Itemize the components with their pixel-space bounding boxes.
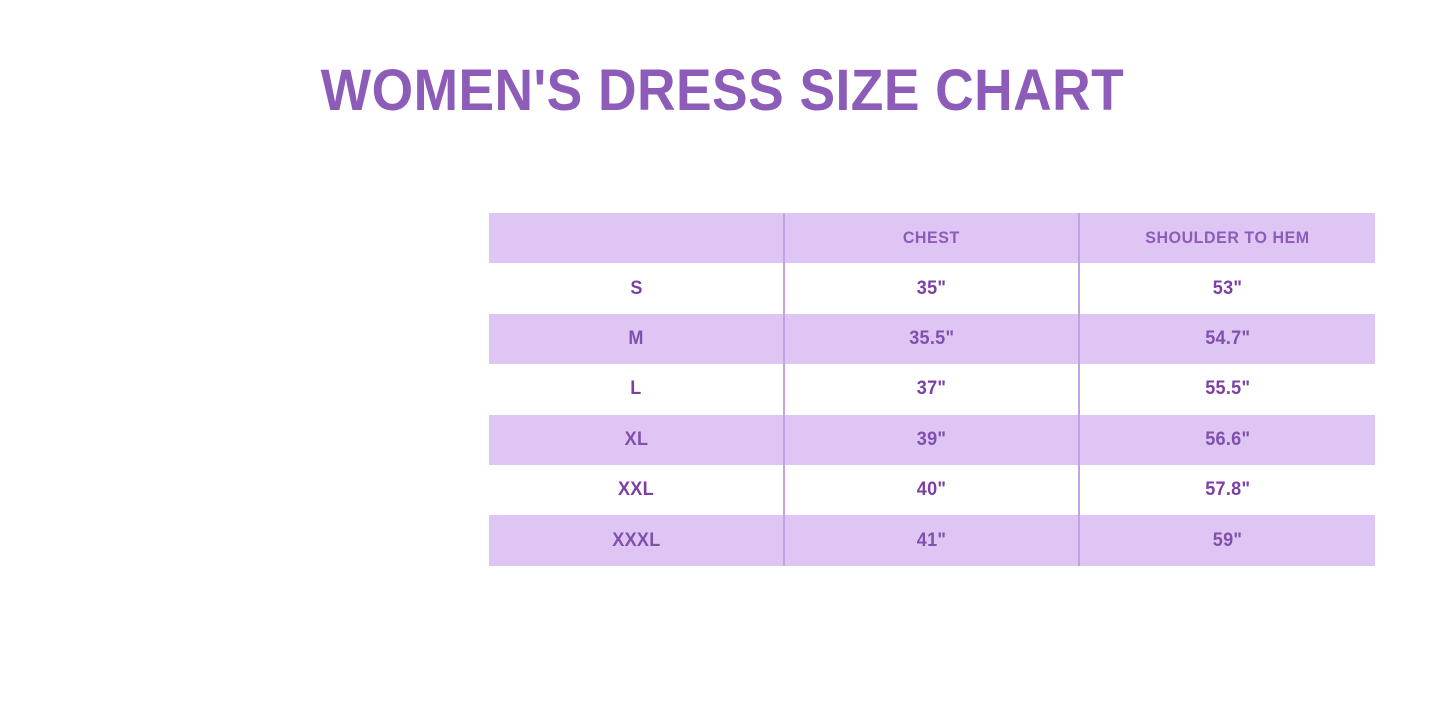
table-row: XL 39" 56.6" [489,415,1375,465]
table-row: XXXL 41" 59" [489,515,1375,565]
table-header: CHEST SHOULDER TO HEM [489,213,1375,263]
table-row: M 35.5" 54.7" [489,314,1375,364]
cell-chest: 35.5" [784,314,1079,364]
shoulder-to-hem-value: 56.6" [1205,429,1250,451]
cell-shoulder-to-hem: 59" [1079,515,1375,565]
cell-shoulder-to-hem: 56.6" [1079,415,1375,465]
chest-value: 40" [917,479,946,501]
cell-size: XL [489,415,784,465]
cell-size: XXXL [489,515,784,565]
page-title: WOMEN'S DRESS SIZE CHART [58,56,1387,126]
shoulder-to-hem-value: 54.7" [1205,328,1250,350]
column-header-chest: CHEST [784,213,1079,263]
cell-shoulder-to-hem: 53" [1079,263,1375,313]
size-label: S [630,278,642,300]
cell-shoulder-to-hem: 54.7" [1079,314,1375,364]
chest-value: 35" [917,278,946,300]
column-header-chest-label: CHEST [903,228,960,248]
chest-value: 37" [917,378,946,400]
cell-size: L [489,364,784,414]
cell-shoulder-to-hem: 55.5" [1079,364,1375,414]
cell-size: S [489,263,784,313]
cell-size: XXL [489,465,784,515]
size-label: L [630,378,641,400]
shoulder-to-hem-value: 55.5" [1205,378,1250,400]
shoulder-to-hem-value: 59" [1213,530,1242,552]
column-header-size [489,213,784,263]
page-canvas: WOMEN'S DRESS SIZE CHART CHEST SHOULDER … [0,0,1445,723]
chest-value: 41" [917,530,946,552]
chest-value: 39" [917,429,946,451]
table-row: S 35" 53" [489,263,1375,313]
size-chart-table: CHEST SHOULDER TO HEM S 35" 53" [489,213,1375,566]
shoulder-to-hem-value: 53" [1213,278,1242,300]
cell-chest: 37" [784,364,1079,414]
table-header-row: CHEST SHOULDER TO HEM [489,213,1375,263]
size-label: M [628,328,643,350]
shoulder-to-hem-value: 57.8" [1205,479,1250,501]
column-header-shoulder-to-hem-label: SHOULDER TO HEM [1145,228,1309,248]
table-row: L 37" 55.5" [489,364,1375,414]
table-row: XXL 40" 57.8" [489,465,1375,515]
chest-value: 35.5" [909,328,954,350]
column-header-shoulder-to-hem: SHOULDER TO HEM [1079,213,1375,263]
size-label: XXXL [612,530,660,552]
table-body: S 35" 53" M 35.5" 54.7" [489,263,1375,565]
size-label: XL [624,429,648,451]
cell-chest: 41" [784,515,1079,565]
cell-chest: 39" [784,415,1079,465]
size-label: XXL [618,479,654,501]
cell-shoulder-to-hem: 57.8" [1079,465,1375,515]
cell-chest: 35" [784,263,1079,313]
cell-size: M [489,314,784,364]
cell-chest: 40" [784,465,1079,515]
